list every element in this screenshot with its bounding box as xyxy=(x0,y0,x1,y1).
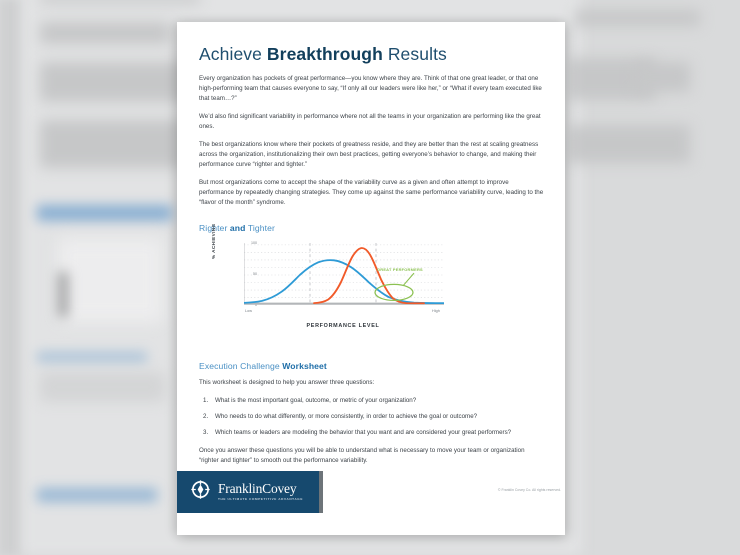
franklincovey-logo-block: FranklinCovey THE ULTIMATE COMPETITIVE A… xyxy=(177,471,323,513)
intro-paragraph-3: The best organizations know where their … xyxy=(199,140,545,170)
list-item: 2.Who needs to do what differently, or m… xyxy=(199,412,545,422)
list-item-number: 2. xyxy=(203,412,208,422)
title-bold: Breakthrough xyxy=(267,44,383,64)
intro-paragraph-1: Every organization has pockets of great … xyxy=(199,74,545,104)
chart-x-axis-label: PERFORMANCE LEVEL xyxy=(227,323,459,329)
background-heading-blue xyxy=(37,352,147,362)
compass-icon xyxy=(190,479,211,505)
worksheet-closing: Once you answer these questions you will… xyxy=(199,446,545,466)
page-content: Achieve Breakthrough Results Every organ… xyxy=(199,44,545,474)
background-chart-mark xyxy=(58,272,68,317)
list-item-number: 1. xyxy=(203,396,208,406)
worksheet-intro: This worksheet is designed to help you a… xyxy=(199,378,545,388)
background-text-block xyxy=(575,10,700,26)
section-heading-righter-tighter: Righter and Tighter xyxy=(199,223,545,233)
chart-y-axis-label: % ACHIEVING xyxy=(211,223,216,259)
document-page: Achieve Breakthrough Results Every organ… xyxy=(177,22,565,535)
worksheet-question-list: 1.What is the most important goal, outco… xyxy=(199,396,545,438)
righter-part-2: Tighter xyxy=(246,223,275,233)
list-item: 3.Which teams or leaders are modeling th… xyxy=(199,428,545,438)
performance-variability-chart: % ACHIEVING 100 50 0 Low High xyxy=(199,241,545,337)
background-text-block xyxy=(40,22,170,44)
list-item-text: Who needs to do what differently, or mor… xyxy=(215,413,477,420)
brand-tagline: THE ULTIMATE COMPETITIVE ADVANTAGE xyxy=(218,498,303,501)
background-chart-area xyxy=(58,238,163,323)
background-text-block xyxy=(40,372,165,402)
copyright-notice: © Franklin Covey Co. All rights reserved… xyxy=(498,488,561,492)
background-text-block xyxy=(570,125,690,163)
list-item-text: Which teams or leaders are modeling the … xyxy=(215,429,511,436)
chart-gridlines-vertical xyxy=(310,243,376,303)
title-part-1: Achieve xyxy=(199,44,267,64)
title-part-2: Results xyxy=(383,44,447,64)
page-title: Achieve Breakthrough Results xyxy=(199,44,545,65)
background-left-strip xyxy=(0,0,22,555)
chart-box: % ACHIEVING 100 50 0 Low High xyxy=(227,241,459,337)
chart-annotation-label: GREAT PERFORMERS xyxy=(377,267,423,272)
worksheet-part-1: Execution Challenge xyxy=(199,361,282,371)
list-item-text: What is the most important goal, outcome… xyxy=(215,397,416,404)
background-heading-blue xyxy=(37,205,172,221)
righter-bold: and xyxy=(230,223,246,233)
chart-series-righter-tighter-curve xyxy=(314,248,424,303)
worksheet-bold: Worksheet xyxy=(282,361,327,371)
background-text-block xyxy=(40,0,200,3)
list-item-number: 3. xyxy=(203,428,208,438)
chart-x-tick-low: Low xyxy=(245,309,252,313)
chart-plot-area xyxy=(244,243,444,307)
section-heading-worksheet: Execution Challenge Worksheet xyxy=(199,361,545,371)
page-footer: FranklinCovey THE ULTIMATE COMPETITIVE A… xyxy=(177,471,565,513)
brand-name: FranklinCovey xyxy=(218,482,303,496)
logo-text-group: FranklinCovey THE ULTIMATE COMPETITIVE A… xyxy=(218,482,303,501)
background-text-block xyxy=(635,62,690,92)
background-text-block xyxy=(40,120,185,168)
intro-paragraph-4: But most organizations come to accept th… xyxy=(199,178,545,208)
list-item: 1.What is the most important goal, outco… xyxy=(199,396,545,406)
intro-paragraph-2: We’d also find significant variability i… xyxy=(199,112,545,132)
background-heading-blue xyxy=(37,488,157,502)
background-text-block xyxy=(40,62,190,102)
chart-x-tick-high: High xyxy=(432,309,440,313)
